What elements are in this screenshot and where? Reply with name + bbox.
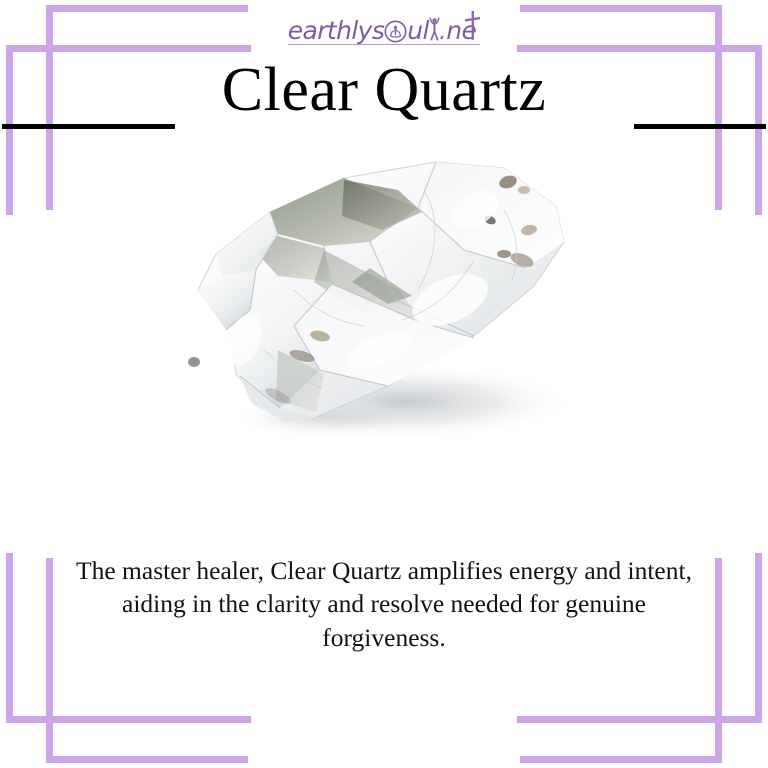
crystal-info-card: earthlys ul xyxy=(0,0,768,768)
lotus-meditation-figure-icon xyxy=(383,19,408,44)
crystal-image-stage xyxy=(0,150,768,465)
site-logo[interactable]: earthlys ul xyxy=(0,12,768,42)
logo-lockup[interactable]: earthlys ul xyxy=(288,12,481,42)
title-underline-right xyxy=(634,124,766,129)
clear-quartz-crystal-point-image xyxy=(174,150,594,465)
logo-text-mid: ul xyxy=(407,18,429,43)
page-title-block: Clear Quartz xyxy=(0,58,768,123)
title-underline-left xyxy=(2,124,175,129)
cross-t-icon xyxy=(465,11,480,41)
logo-text-left: earthlys xyxy=(288,18,385,43)
logo-dot: . xyxy=(439,18,446,43)
logo-underline xyxy=(288,44,481,46)
page-title: Clear Quartz xyxy=(220,58,548,123)
crystal-description: The master healer, Clear Quartz amplifie… xyxy=(64,554,704,656)
